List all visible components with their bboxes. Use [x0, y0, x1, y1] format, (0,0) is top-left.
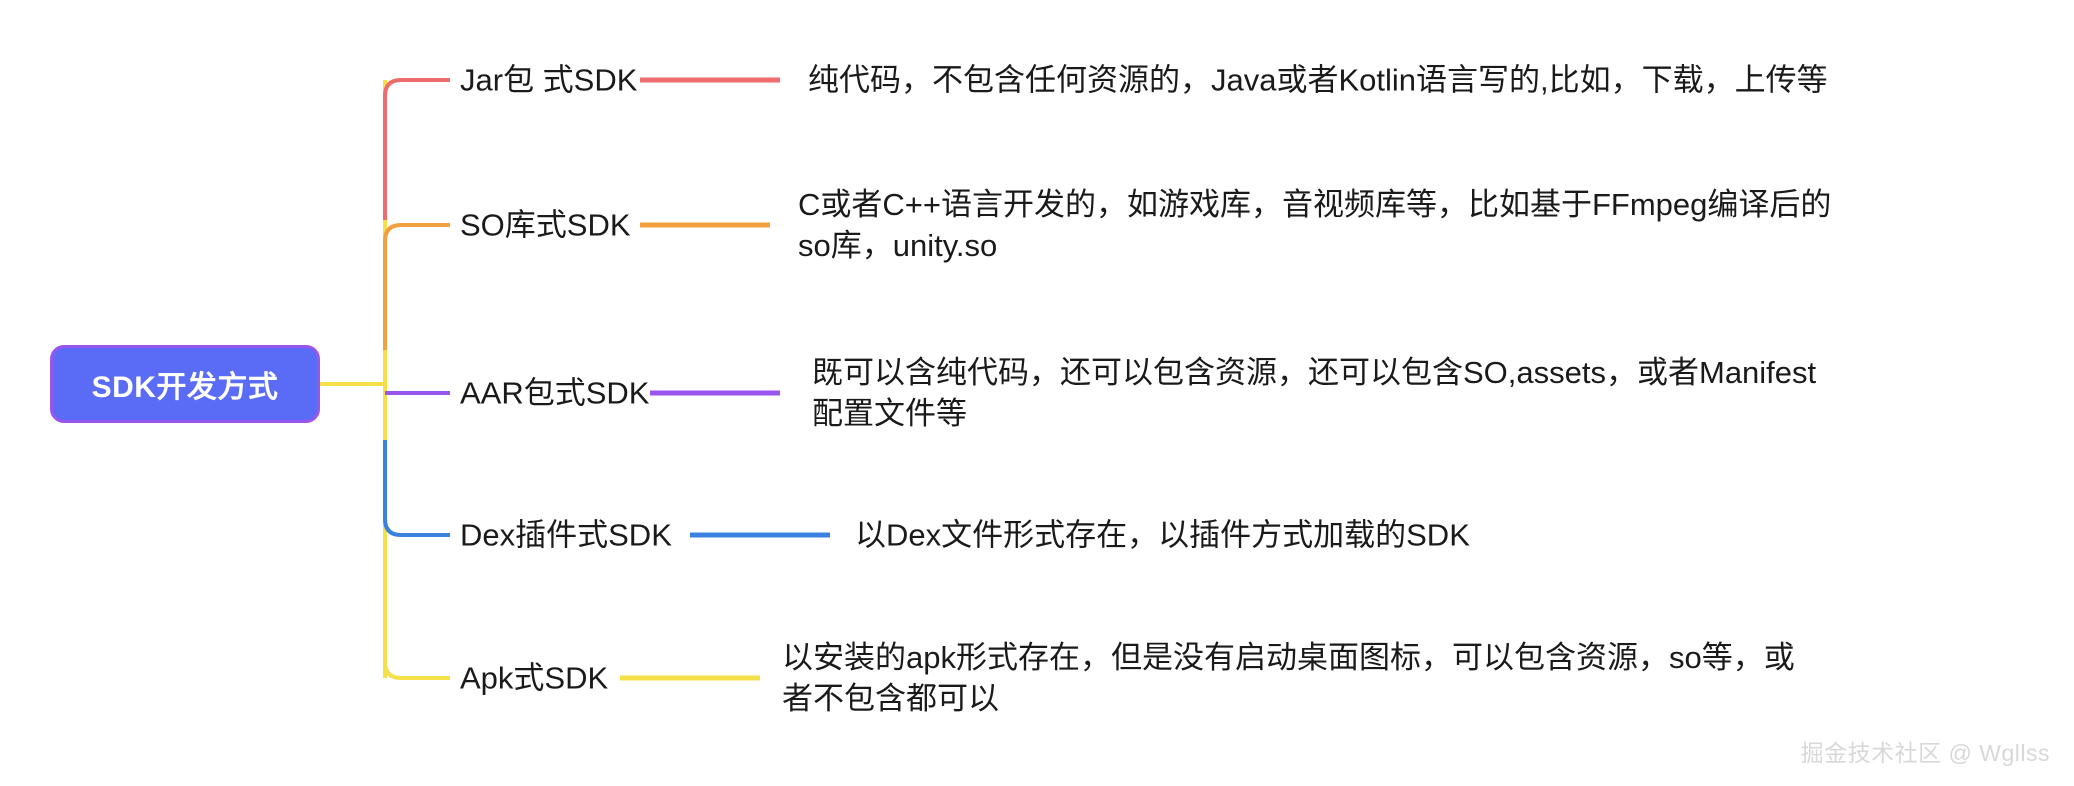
mindmap-canvas: SDK开发方式 Jar包 式SDK SO库式SDK AAR包式SDK Dex插件… [0, 0, 2074, 786]
desc-line: 者不包含都可以 [782, 678, 1795, 719]
desc-line: so库，unity.so [798, 225, 1831, 266]
branch-elbow-so [385, 225, 450, 350]
central-topic-node[interactable]: SDK开发方式 [50, 345, 320, 423]
central-topic-label: SDK开发方式 [92, 362, 279, 406]
branch-elbow-dex [385, 440, 450, 535]
desc-line: 以Dex文件形式存在，以插件方式加载的SDK [855, 514, 1470, 555]
branch-elbow-apk [385, 600, 450, 678]
desc-line: 纯代码，不包含任何资源的，Java或者Kotlin语言写的,比如，下载，上传等 [808, 59, 1828, 100]
desc-line: C或者C++语言开发的，如游戏库，音视频库等，比如基于FFmpeg编译后的 [798, 184, 1831, 225]
branch-topic-jar[interactable]: Jar包 式SDK [460, 65, 637, 96]
branch-topic-so[interactable]: SO库式SDK [460, 210, 631, 241]
desc-line: 配置文件等 [812, 393, 1816, 434]
branch-desc-so[interactable]: C或者C++语言开发的，如游戏库，音视频库等，比如基于FFmpeg编译后的 so… [798, 184, 1831, 266]
branch-desc-jar[interactable]: 纯代码，不包含任何资源的，Java或者Kotlin语言写的,比如，下载，上传等 [808, 59, 1828, 100]
desc-line: 以安装的apk形式存在，但是没有启动桌面图标，可以包含资源，so等，或 [782, 637, 1795, 678]
watermark-label: 掘金技术社区 @ Wgllss [1801, 734, 2050, 768]
branch-topic-apk[interactable]: Apk式SDK [460, 663, 608, 694]
branch-elbow-jar [385, 80, 450, 220]
branch-desc-aar[interactable]: 既可以含纯代码，还可以包含资源，还可以包含SO,assets，或者Manifes… [812, 352, 1816, 434]
branch-topic-aar[interactable]: AAR包式SDK [460, 378, 649, 409]
branch-topic-dex[interactable]: Dex插件式SDK [460, 520, 672, 551]
desc-line: 既可以含纯代码，还可以包含资源，还可以包含SO,assets，或者Manifes… [812, 352, 1816, 393]
branch-desc-apk[interactable]: 以安装的apk形式存在，但是没有启动桌面图标，可以包含资源，so等，或 者不包含… [782, 637, 1795, 719]
branch-desc-dex[interactable]: 以Dex文件形式存在，以插件方式加载的SDK [855, 514, 1470, 555]
